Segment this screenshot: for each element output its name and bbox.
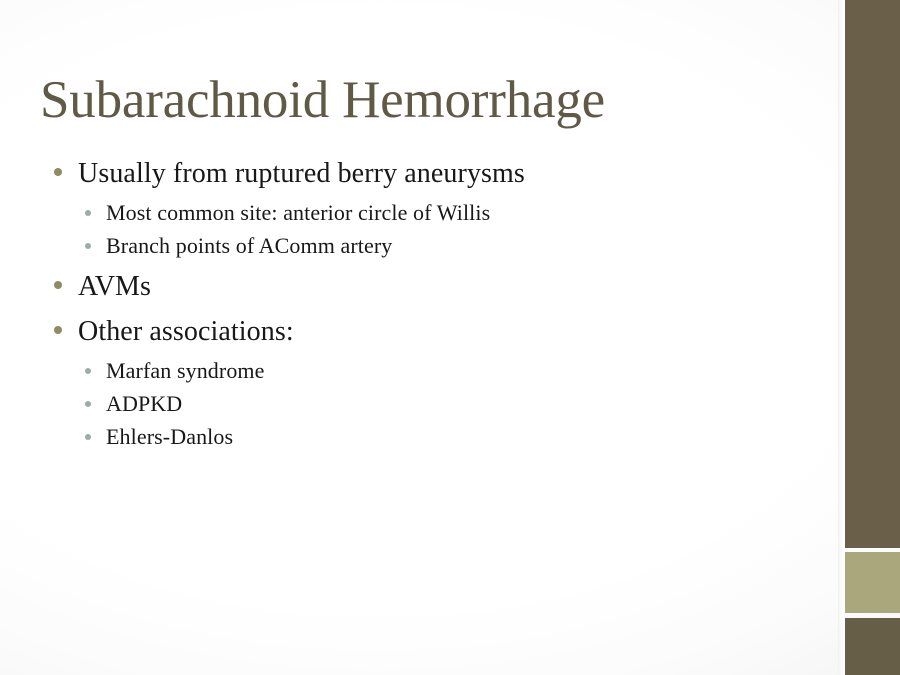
bullet-text: AVMs	[78, 266, 151, 307]
bullet-text: Branch points of AComm artery	[106, 229, 392, 262]
side-band-block-top	[845, 0, 900, 548]
bullet-dot-icon	[85, 243, 91, 249]
bullet-dot-icon	[85, 401, 91, 407]
bullet-text: ADPKD	[106, 387, 182, 420]
presentation-slide: Subarachnoid Hemorrhage Usually from rup…	[0, 0, 900, 675]
bullet-dot-icon	[85, 210, 91, 216]
bullet-item-level2: Marfan syndrome	[48, 354, 828, 387]
bullet-item-level1: AVMs	[48, 266, 828, 307]
bullet-item-level2: Ehlers-Danlos	[48, 420, 828, 453]
bullet-dot-icon	[85, 368, 91, 374]
bullet-dot-icon	[85, 434, 91, 440]
bullet-text: Marfan syndrome	[106, 354, 265, 387]
bullet-item-level2: Most common site: anterior circle of Wil…	[48, 196, 828, 229]
slide-body-bullet-list: Usually from ruptured berry aneurysmsMos…	[48, 153, 828, 453]
bullet-text: Ehlers-Danlos	[106, 420, 233, 453]
side-band-block-middle	[845, 552, 900, 613]
bullet-text: Usually from ruptured berry aneurysms	[78, 153, 525, 194]
bullet-dot-icon	[54, 168, 62, 176]
bullet-item-level2: Branch points of AComm artery	[48, 229, 828, 262]
bullet-item-level2: ADPKD	[48, 387, 828, 420]
side-band-gutter	[838, 0, 845, 675]
bullet-text: Other associations:	[78, 311, 294, 352]
side-band-block-bottom	[845, 618, 900, 675]
bullet-item-level1: Other associations:	[48, 311, 828, 352]
bullet-text: Most common site: anterior circle of Wil…	[106, 196, 490, 229]
slide-title: Subarachnoid Hemorrhage	[40, 73, 830, 128]
bullet-dot-icon	[54, 281, 62, 289]
bullet-item-level1: Usually from ruptured berry aneurysms	[48, 153, 828, 194]
bullet-dot-icon	[54, 326, 62, 334]
side-decoration-band	[845, 0, 900, 675]
